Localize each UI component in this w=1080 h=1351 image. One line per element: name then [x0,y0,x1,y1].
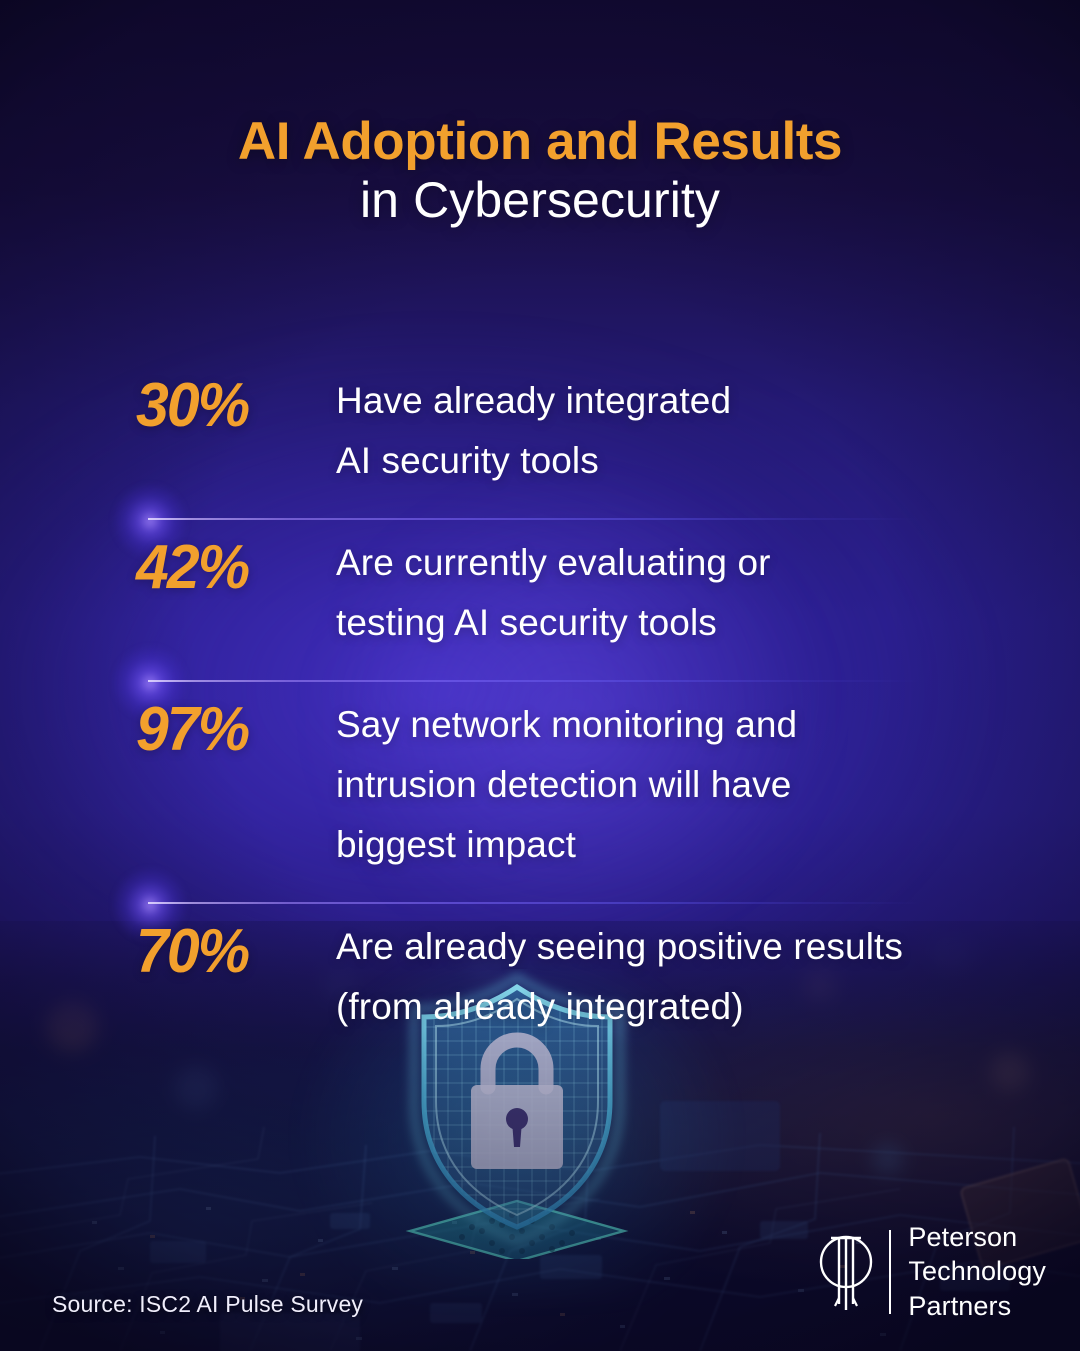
title-line-2: in Cybersecurity [0,171,1080,230]
source-attribution: Source: ISC2 AI Pulse Survey [52,1291,363,1318]
stat-row: 97% Say network monitoring and intrusion… [0,695,1080,875]
stat-row: 70% Are already seeing positive results … [0,917,1080,1037]
logo-word-line: Peterson [908,1220,1046,1254]
stat-description-line: Are already seeing positive results [336,917,1050,977]
divider-line [148,902,920,904]
stat-description: Say network monitoring and intrusion det… [336,695,1050,875]
stat-percent: 42% [136,533,326,599]
logo-divider-rule [889,1230,891,1314]
logo-word-line: Partners [908,1289,1046,1323]
stat-description: Are currently evaluating or testing AI s… [336,533,1050,653]
stat-description: Have already integrated AI security tool… [336,371,1050,491]
row-divider [0,505,1080,533]
logo-wordmark: Peterson Technology Partners [908,1220,1046,1323]
stat-row: 42% Are currently evaluating or testing … [0,533,1080,653]
stat-description-line: Say network monitoring and [336,695,1050,755]
infographic-poster: AI Adoption and Results in Cybersecurity… [0,0,1080,1351]
stat-description: Are already seeing positive results (fro… [336,917,1050,1037]
stat-description-line: Are currently evaluating or [336,533,1050,593]
stat-description-line: Have already integrated [336,371,1050,431]
statistics-list: 30% Have already integrated AI security … [0,371,1080,1036]
divider-line [148,518,920,520]
row-divider [0,667,1080,695]
title-line-1: AI Adoption and Results [0,112,1080,171]
stat-percent: 97% [136,695,326,761]
brand-logo: Peterson Technology Partners [809,1220,1046,1323]
stat-description-line: testing AI security tools [336,593,1050,653]
stat-percent: 70% [136,917,326,983]
stat-description-line: biggest impact [336,815,1050,875]
logo-word-line: Technology [908,1254,1046,1288]
page-title: AI Adoption and Results in Cybersecurity [0,112,1080,230]
stat-description-line: intrusion detection will have [336,755,1050,815]
stat-percent: 30% [136,371,326,437]
stat-row: 30% Have already integrated AI security … [0,371,1080,491]
divider-line [148,680,920,682]
row-divider [0,889,1080,917]
stat-description-line: AI security tools [336,431,1050,491]
stat-description-line: (from already integrated) [336,977,1050,1037]
peterson-monogram-icon [809,1226,883,1318]
